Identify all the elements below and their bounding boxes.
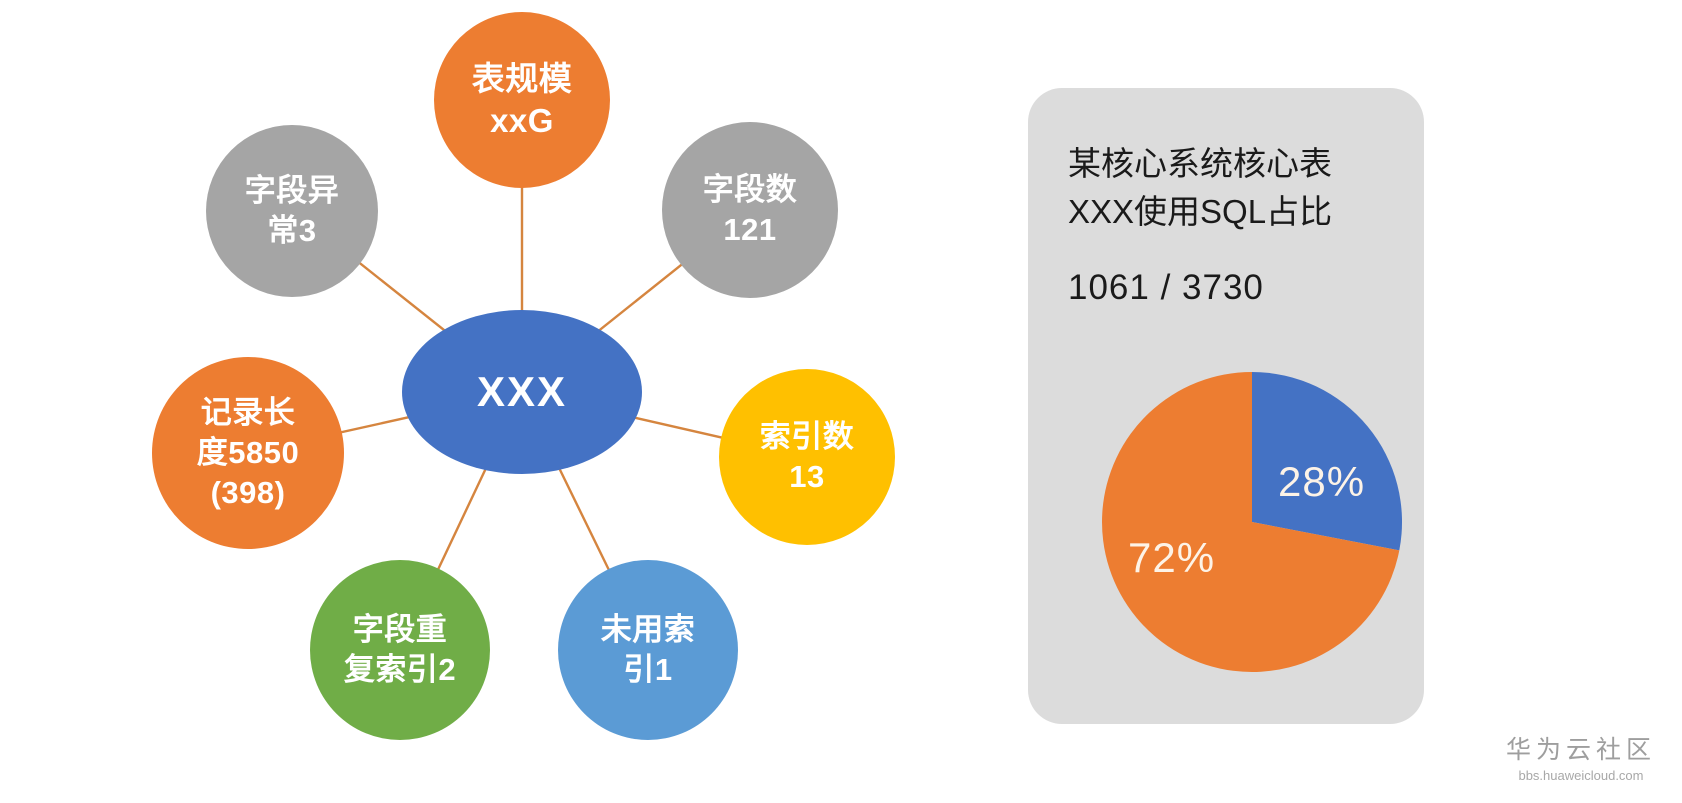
mindmap-node-label-field-count: 字段数 121 (697, 170, 804, 249)
panel-ratio-value: 1061 / 3730 (1068, 268, 1264, 308)
mindmap-center-label: XXX (471, 365, 573, 419)
mindmap-node-label-duplicate-index: 字段重 复索引2 (338, 610, 462, 689)
mindmap-center-node[interactable]: XXX (402, 310, 642, 474)
mindmap-node-label-record-length: 记录长 度5850 (398) (191, 393, 305, 512)
mindmap-node-table-size[interactable]: 表规模 xxG (434, 12, 610, 188)
mindmap-node-label-table-size: 表规模 xxG (466, 58, 579, 142)
mindmap-node-unused-index[interactable]: 未用索 引1 (558, 560, 738, 740)
mindmap-diagram: XXX 表规模 xxG 字段数 121 字段异 常3 记录长 度5850 (39… (0, 0, 1000, 803)
pie-label-orange: 72% (1128, 534, 1215, 582)
watermark: 华为云社区 bbs.huaweicloud.com (1506, 735, 1656, 783)
panel-title: 某核心系统核心表 XXX使用SQL占比 (1068, 140, 1398, 236)
mindmap-node-index-count[interactable]: 索引数 13 (719, 369, 895, 545)
mindmap-node-label-field-abnormal: 字段异 常3 (239, 171, 346, 250)
mindmap-node-label-index-count: 索引数 13 (754, 417, 861, 496)
pie-label-blue: 28% (1278, 458, 1365, 506)
mindmap-node-label-unused-index: 未用索 引1 (595, 610, 702, 689)
mindmap-node-record-length[interactable]: 记录长 度5850 (398) (152, 357, 344, 549)
mindmap-node-field-count[interactable]: 字段数 121 (662, 122, 838, 298)
pie-chart-svg (1092, 362, 1412, 682)
watermark-brand: 华为云社区 (1506, 735, 1656, 766)
mindmap-node-duplicate-index[interactable]: 字段重 复索引2 (310, 560, 490, 740)
mindmap-node-field-abnormal[interactable]: 字段异 常3 (206, 125, 378, 297)
watermark-url: bbs.huaweicloud.com (1506, 768, 1656, 783)
sql-usage-pie-chart: 28% 72% (1092, 362, 1412, 682)
